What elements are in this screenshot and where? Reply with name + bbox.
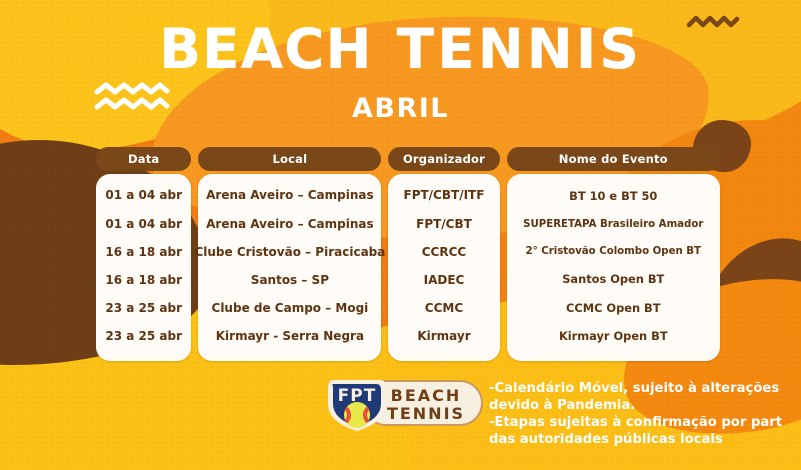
table-cell: IADEC	[424, 274, 465, 287]
table-cell: Kirmayr Open BT	[559, 330, 668, 343]
logo-word-beach: BEACH	[391, 386, 462, 405]
table-cell: Clube Cristovão – Piracicaba	[194, 246, 385, 259]
table-cell: 2° Cristovão Colombo Open BT	[526, 246, 702, 257]
table-cell: BT 10 e BT 50	[569, 190, 657, 203]
table-cell: 23 a 25 abr	[105, 302, 182, 315]
column-header-evento: Nome do Evento	[507, 147, 720, 171]
logo-word-tennis: TENNIS	[387, 404, 465, 423]
table-column-local: Local Arena Aveiro – Campinas Arena Avei…	[198, 147, 381, 361]
page-title-part2: H TENNIS	[326, 17, 642, 81]
footer-note-line-1: -Calendário Móvel, sujeito à alterações	[489, 381, 801, 398]
column-header-data: Data	[96, 147, 191, 171]
column-body-local: Arena Aveiro – Campinas Arena Aveiro – C…	[198, 174, 381, 361]
zigzag-wave-icon-right	[686, 12, 740, 32]
column-header-local: Local	[198, 147, 381, 171]
table-cell: Arena Aveiro – Campinas	[206, 189, 374, 202]
table-cell: Santos Open BT	[562, 273, 664, 286]
table-cell: FPT/CBT	[416, 218, 472, 231]
footer-note-line-2: devido à Pandemia.	[489, 398, 801, 415]
table-cell: CCMC Open BT	[566, 302, 660, 315]
zigzag-wave-icon-left	[93, 82, 171, 116]
schedule-table: Data 01 a 04 abr 01 a 04 abr 16 a 18 abr…	[96, 147, 720, 361]
table-column-data: Data 01 a 04 abr 01 a 04 abr 16 a 18 abr…	[96, 147, 191, 361]
table-cell: Arena Aveiro – Campinas	[206, 218, 374, 231]
table-cell: 16 a 18 abr	[105, 274, 182, 287]
table-cell: SUPERETAPA Brasileiro Amador	[523, 219, 703, 230]
page-title-part1: BEAC	[159, 17, 325, 81]
poster-canvas: BEACH TENNIS ABRIL Data 01 a 04 abr 01 a…	[0, 0, 801, 470]
column-body-data: 01 a 04 abr 01 a 04 abr 16 a 18 abr 16 a…	[96, 174, 191, 361]
poster-header: BEACH TENNIS ABRIL	[0, 0, 801, 140]
fpt-beach-tennis-logo: BEACH TENNIS FPT	[318, 372, 484, 434]
page-title: BEACH TENNIS	[0, 22, 801, 77]
table-cell: FPT/CBT/ITF	[404, 189, 485, 202]
column-body-organizador: FPT/CBT/ITF FPT/CBT CCRCC IADEC CCMC Kir…	[388, 174, 499, 361]
table-cell: Santos – SP	[251, 274, 329, 287]
table-cell: 01 a 04 abr	[105, 189, 182, 202]
column-header-organizador: Organizador	[388, 147, 499, 171]
footer-notes: -Calendário Móvel, sujeito à alterações …	[489, 381, 801, 449]
table-column-organizador: Organizador FPT/CBT/ITF FPT/CBT CCRCC IA…	[388, 147, 499, 361]
footer-note-line-4: das autoridades públicas locais	[489, 432, 801, 449]
column-body-evento: BT 10 e BT 50 SUPERETAPA Brasileiro Amad…	[507, 174, 720, 361]
table-cell: CCMC	[425, 302, 463, 315]
table-cell: 16 a 18 abr	[105, 246, 182, 259]
table-cell: 23 a 25 abr	[105, 330, 182, 343]
table-cell: Kirmayr	[417, 330, 470, 343]
table-cell: Kirmayr - Serra Negra	[216, 330, 364, 343]
table-cell: CCRCC	[422, 246, 466, 259]
table-cell: 01 a 04 abr	[105, 218, 182, 231]
footer-note-line-3: -Etapas sujeitas à confirmação por part	[489, 415, 801, 432]
table-cell: Clube de Campo – Mogi	[212, 302, 369, 315]
table-column-evento: Nome do Evento BT 10 e BT 50 SUPERETAPA …	[507, 147, 720, 361]
